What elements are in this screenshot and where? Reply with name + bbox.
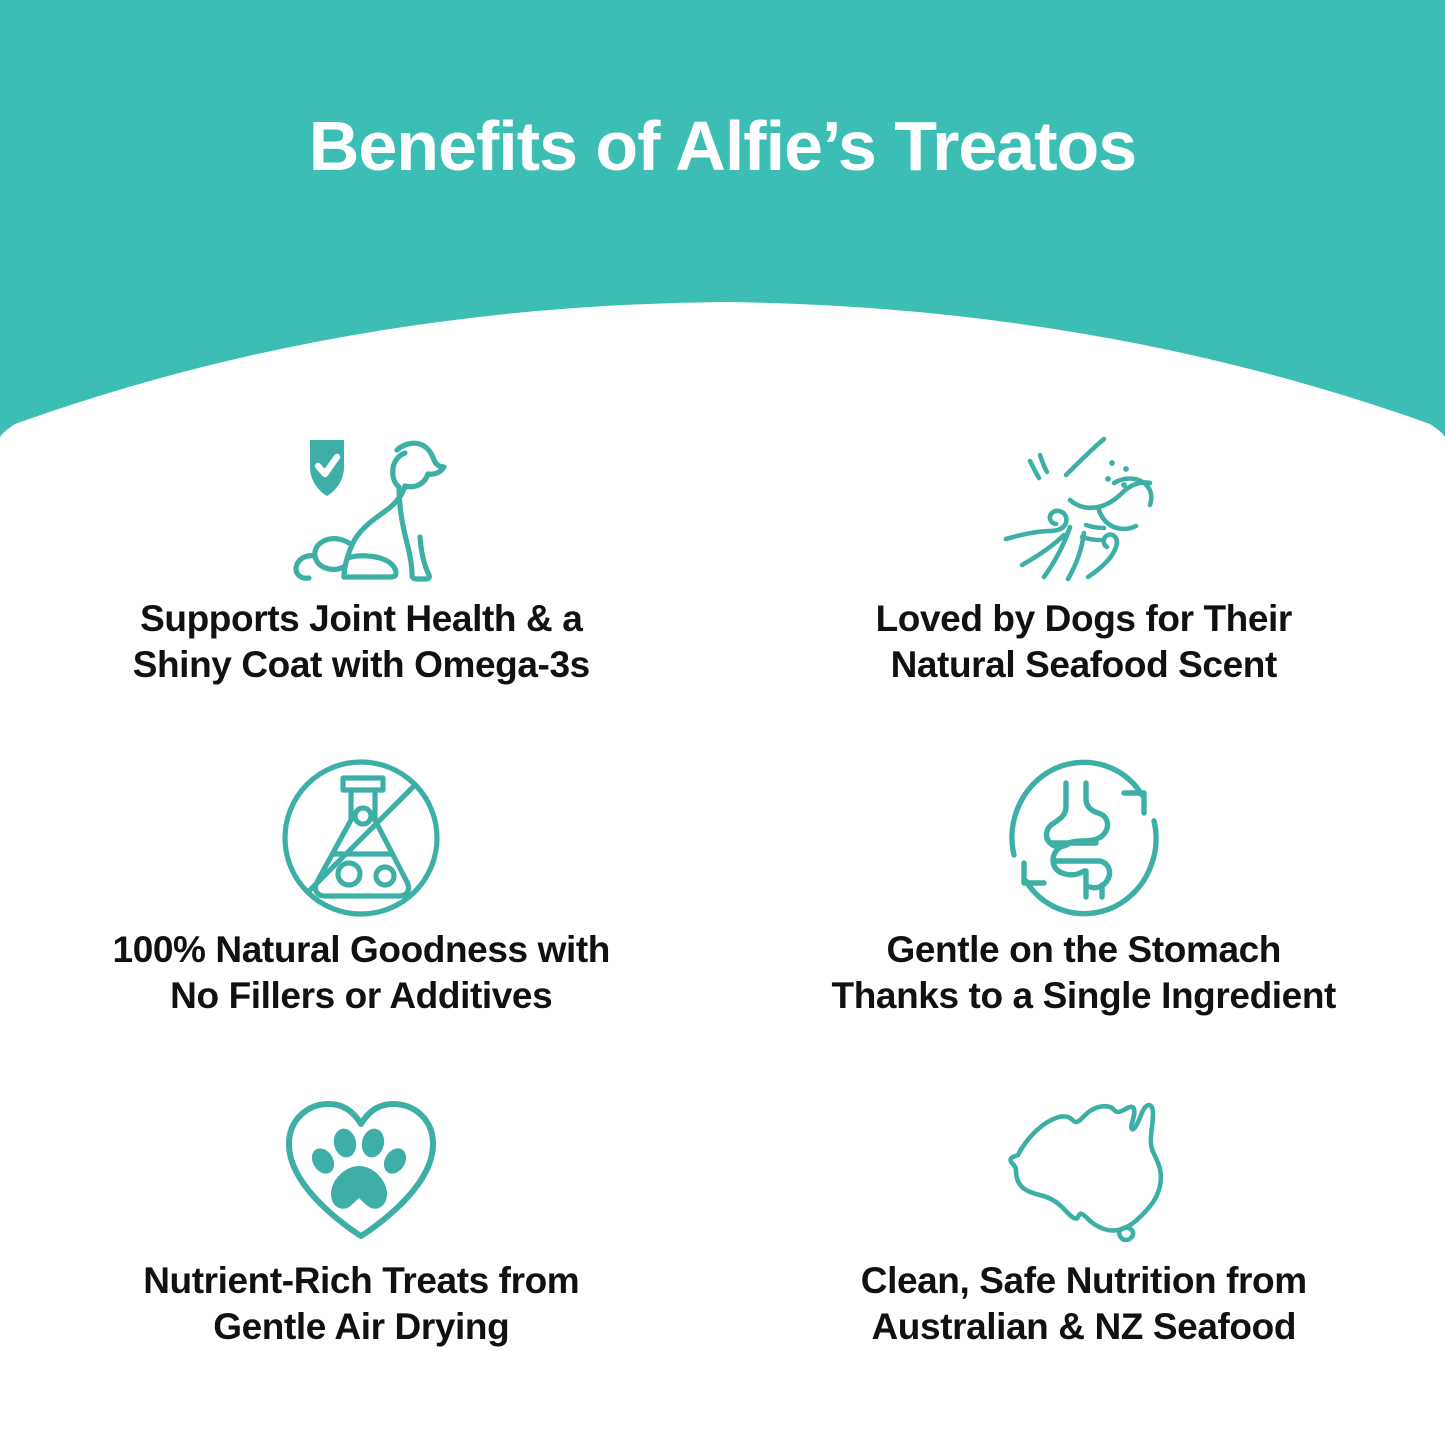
page-title: Benefits of Alfie’s Treatos <box>0 104 1445 188</box>
dog-nose-sniffing-scent-icon <box>996 418 1172 596</box>
benefit-caption: Clean, Safe Nutrition from Australian & … <box>861 1258 1307 1350</box>
benefit-caption: Gentle on the Stomach Thanks to a Single… <box>832 927 1336 1019</box>
no-chemicals-flask-icon <box>277 749 445 927</box>
benefit-card-nutrient-rich: Nutrient-Rich Treats from Gentle Air Dry… <box>0 1080 723 1411</box>
header-teal-arc-shape <box>0 0 1445 450</box>
mainland-outline <box>1010 1105 1160 1230</box>
benefit-caption: Loved by Dogs for Their Natural Seafood … <box>876 596 1292 688</box>
header-banner: Benefits of Alfie’s Treatos <box>0 0 1445 450</box>
benefit-caption: Nutrient-Rich Treats from Gentle Air Dry… <box>143 1258 579 1350</box>
benefits-grid: Supports Joint Health & a Shiny Coat wit… <box>0 418 1445 1411</box>
benefit-card-natural-goodness: 100% Natural Goodness with No Fillers or… <box>0 749 723 1080</box>
benefit-card-seafood-scent: Loved by Dogs for Their Natural Seafood … <box>723 418 1445 749</box>
benefit-card-gentle-stomach: Gentle on the Stomach Thanks to a Single… <box>723 749 1445 1080</box>
benefit-card-aus-nz-seafood: Clean, Safe Nutrition from Australian & … <box>723 1080 1445 1411</box>
australia-map-outline-icon <box>994 1080 1174 1258</box>
tasmania-outline <box>1119 1228 1133 1240</box>
paw-print-icon <box>308 1127 411 1209</box>
benefit-caption: Supports Joint Health & a Shiny Coat wit… <box>133 596 590 688</box>
flask-cap <box>343 778 383 790</box>
infographic-page: Benefits of Alfie’s Treatos <box>0 0 1445 1445</box>
benefit-caption: 100% Natural Goodness with No Fillers or… <box>113 927 610 1019</box>
heart-with-paw-print-icon <box>275 1080 447 1258</box>
benefit-card-joint-health: Supports Joint Health & a Shiny Coat wit… <box>0 418 723 749</box>
dog-with-shield-check-icon <box>266 418 456 596</box>
intestine-digestion-arrows-icon <box>1000 749 1168 927</box>
